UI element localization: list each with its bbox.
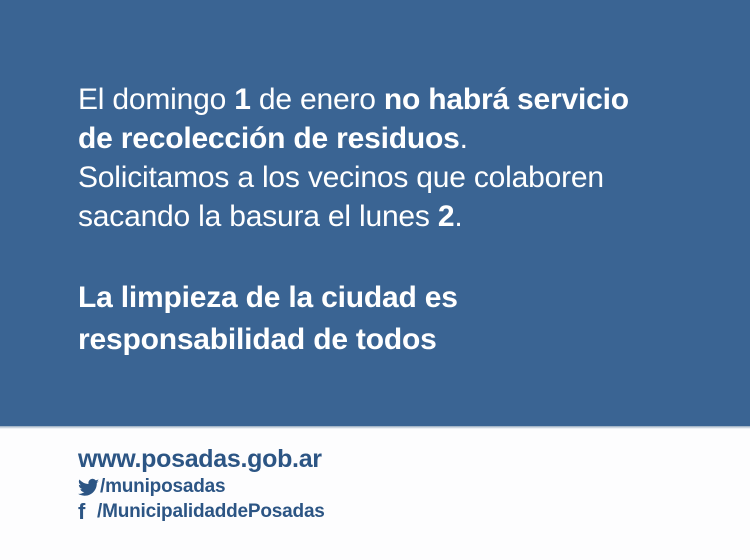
message-line-1-part-2: 1 [234, 83, 251, 116]
message-line-4-part-1: sacando la basura el lunes [78, 200, 438, 233]
twitter-bird-icon [78, 478, 99, 497]
facebook-f-icon: f [78, 501, 91, 523]
website-url[interactable]: www.posadas.gob.ar [78, 444, 325, 474]
message-line-1-part-1: El domingo [78, 83, 234, 116]
message-line-4: sacando la basura el lunes 2. [78, 197, 688, 236]
message-line-3: Solicitamos a los vecinos que colaboren [78, 158, 688, 197]
message-line-1: El domingo 1 de enero no habrá servicio [78, 80, 688, 119]
headline-line-1: La limpieza de la ciudad es [78, 277, 688, 319]
poster-canvas: El domingo 1 de enero no habrá servicio … [0, 0, 750, 560]
message-line-2-part-2: . [460, 122, 468, 155]
facebook-handle-text: /MunicipalidaddePosadas [97, 499, 325, 524]
facebook-handle-row[interactable]: f /MunicipalidaddePosadas [78, 499, 325, 524]
message-line-2-part-1: de recolección de residuos [78, 122, 460, 155]
headline: La limpieza de la ciudad es responsabili… [78, 277, 688, 361]
twitter-handle-row[interactable]: /muniposadas [78, 474, 325, 499]
message-line-1-part-3: de enero [251, 83, 384, 116]
message-line-4-part-3: . [454, 200, 462, 233]
message-line-4-part-2: 2 [438, 200, 455, 233]
message-line-3-part-1: Solicitamos a los vecinos que colaboren [78, 161, 604, 194]
footer-bar: www.posadas.gob.ar /muniposadas f /Munic… [0, 429, 750, 560]
announcement-message: El domingo 1 de enero no habrá servicio … [78, 80, 688, 236]
message-line-2: de recolección de residuos. [78, 119, 688, 158]
contact-block: www.posadas.gob.ar /muniposadas f /Munic… [78, 444, 325, 524]
message-line-1-part-4: no habrá servicio [384, 83, 629, 116]
twitter-handle-text: /muniposadas [100, 474, 225, 499]
headline-line-2: responsabilidad de todos [78, 319, 688, 361]
